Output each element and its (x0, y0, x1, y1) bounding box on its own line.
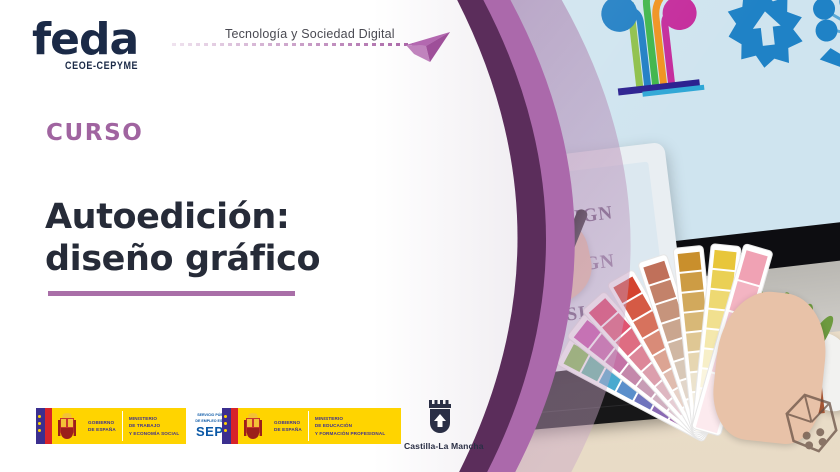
tablet-abc-label: ABC (476, 312, 524, 340)
footer-logo-strip: GOBIERNO DE ESPAÑA MINISTERIO DE TRABAJO… (0, 398, 430, 460)
spain-coat-of-arms-icon (52, 408, 82, 444)
ministerio-line2: DE TRABAJO (129, 422, 180, 429)
ministerio-line1: MINISTERIO (129, 415, 180, 422)
gobierno-text: GOBIERNO DE ESPAÑA (82, 408, 122, 444)
eyebrow-curso: CURSO (46, 120, 143, 146)
feda-logo-wordmark: feda (32, 18, 138, 62)
castle-shield-icon (425, 400, 455, 434)
hand-sprout-icon (809, 0, 840, 76)
gobierno-text: GOBIERNO DE ESPAÑA (268, 408, 308, 444)
flag-red-bar (45, 408, 52, 444)
gobierno-line1: GOBIERNO (274, 419, 302, 426)
gobierno-line2: DE ESPAÑA (274, 426, 302, 433)
graphic-design-workspace-photo: ABC ABC ABC ABC DESIGN DESIGN DESIGN (430, 0, 840, 472)
flag-blue-bar (36, 408, 45, 444)
feda-logo[interactable]: feda CEOE-CEPYME (32, 18, 138, 69)
course-banner: ABC ABC ABC ABC DESIGN DESIGN DESIGN (0, 0, 840, 472)
swatch-bars (443, 324, 463, 341)
gobierno-line1: GOBIERNO (88, 419, 116, 426)
logo-gobierno-educacion: GOBIERNO DE ESPAÑA MINISTERIO DE EDUCACI… (222, 408, 401, 444)
paper-plane-icon (404, 26, 456, 66)
page-title-line2: diseño gráfico (45, 239, 320, 279)
flag-red-bar (231, 408, 238, 444)
tagline: Tecnología y Sociedad Digital (225, 27, 395, 41)
ministerio-text: MINISTERIO DE EDUCACIÓN Y FORMACIÓN PROF… (309, 408, 402, 444)
page-title-line1: Autoedición: (45, 197, 289, 237)
spain-coat-of-arms-icon (238, 408, 268, 444)
page-title: Autoedición: diseño gráfico (45, 196, 425, 280)
starburst-arrow-icon (724, 0, 810, 71)
feda-logo-subtitle: CEOE-CEPYME (32, 59, 138, 72)
castilla-la-mancha-label: Castilla-La Mancha (404, 441, 476, 451)
dotted-flight-path (172, 43, 415, 46)
gobierno-line2: DE ESPAÑA (88, 426, 116, 433)
logo-gobierno-trabajo-sepe: GOBIERNO DE ESPAÑA MINISTERIO DE TRABAJO… (36, 408, 242, 444)
ministerio-line3: Y ECONOMÍA SOCIAL (129, 430, 180, 437)
rainbow-tree-icon (571, 0, 737, 124)
ministerio-line1: MINISTERIO (315, 415, 386, 422)
title-underline-rule (48, 291, 295, 296)
ministerio-line2: DE EDUCACIÓN (315, 422, 386, 429)
swatch-bars (437, 210, 457, 227)
ministerio-line3: Y FORMACIÓN PROFESIONAL (315, 430, 386, 437)
flag-blue-bar (222, 408, 231, 444)
ministerio-text: MINISTERIO DE TRABAJO Y ECONOMÍA SOCIAL (123, 408, 186, 444)
logo-castilla-la-mancha: Castilla-La Mancha (404, 400, 476, 451)
